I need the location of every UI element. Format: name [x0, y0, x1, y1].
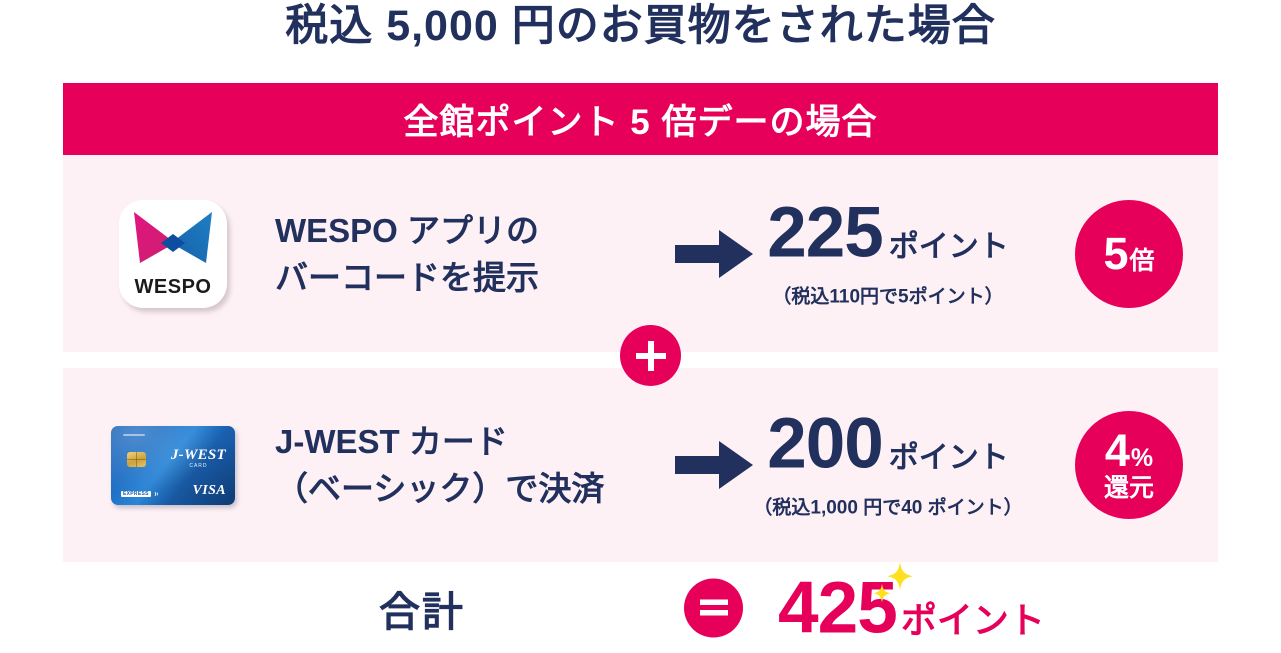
plus-glyph — [634, 339, 668, 373]
reward-row-jwest: J-WEST CARD EXPRESS VISA J-WEST カード （ — [63, 368, 1218, 562]
equals-glyph — [698, 597, 730, 619]
points-main-line: 225ポイント — [723, 198, 1053, 287]
points-unit: ポイント — [889, 230, 1009, 263]
points-note: （税込1,000 円で40 ポイント） — [723, 497, 1053, 521]
badge-secondary-line: 還元 — [1104, 474, 1154, 502]
label-line-2: （ベーシック）で決済 — [275, 465, 604, 512]
campaign-header-label: 全館ポイント 5 倍デーの場合 — [404, 94, 878, 145]
badge-suffix: % — [1131, 446, 1153, 471]
plus-divider-icon — [620, 325, 681, 386]
reward-points-wespo: 225ポイント （税込110円で5ポイント） — [723, 198, 1053, 309]
rebate-badge-4percent: 4% 還元 — [1075, 411, 1183, 519]
wespo-logo-cell: WESPO — [103, 189, 243, 319]
card-brand-sub: CARD — [171, 463, 226, 470]
card-brand-logo: J-WEST CARD — [171, 448, 226, 470]
infographic-root: 税込 5,000 円のお買物をされた場合 全館ポイント 5 倍デーの場合 — [0, 0, 1281, 653]
reward-row-content: WESPO WESPO アプリの バーコードを提示 225ポイント （税込110… — [63, 155, 1218, 352]
points-note: （税込110円で5ポイント） — [723, 285, 1053, 309]
campaign-header-band: 全館ポイント 5 倍デーの場合 — [63, 83, 1218, 155]
badge-value: 5 — [1103, 231, 1128, 276]
total-value-number: 425 — [778, 571, 897, 644]
points-value: 200 — [767, 405, 882, 484]
label-line-2: バーコードを提示 — [275, 254, 539, 301]
total-value-unit: ポイント — [901, 591, 1045, 643]
reward-row-content: J-WEST CARD EXPRESS VISA J-WEST カード （ — [63, 368, 1218, 562]
points-unit: ポイント — [889, 442, 1009, 475]
jwest-logo-cell: J-WEST CARD EXPRESS VISA — [103, 400, 243, 530]
card-brand-name: J-WEST — [171, 448, 226, 463]
label-line-1: J-WEST カード — [275, 418, 604, 465]
label-line-1: WESPO アプリの — [275, 207, 539, 254]
wespo-app-icon: WESPO — [119, 200, 227, 308]
wespo-wordmark: WESPO — [119, 276, 227, 299]
badge-suffix: 倍 — [1130, 249, 1155, 274]
reward-points-jwest: 200ポイント （税込1,000 円で40 ポイント） — [723, 410, 1053, 521]
equals-icon — [684, 578, 743, 637]
card-express-label: EXPRESS — [121, 491, 151, 497]
total-points: 425ポイント — [778, 571, 1045, 644]
card-top-stripe — [123, 434, 145, 436]
points-main-line: 200ポイント — [723, 410, 1053, 499]
card-chip-icon — [127, 452, 146, 467]
badge-primary-line: 5倍 — [1103, 231, 1154, 276]
card-express-mark: EXPRESS — [121, 491, 160, 497]
reward-row-label-wespo: WESPO アプリの バーコードを提示 — [275, 207, 539, 301]
wespo-butterfly-mark — [132, 212, 214, 266]
reward-row-wespo: WESPO WESPO アプリの バーコードを提示 225ポイント （税込110… — [63, 155, 1218, 352]
page-title: 税込 5,000 円のお買物をされた場合 — [0, 0, 1281, 56]
total-label: 合計 — [379, 578, 465, 638]
badge-value: 4 — [1105, 428, 1130, 473]
total-row: 合計 425ポイント — [63, 562, 1218, 653]
badge-primary-line: 4% — [1105, 428, 1153, 473]
points-value: 225 — [767, 193, 882, 272]
multiplier-badge-5x: 5倍 — [1075, 200, 1183, 308]
card-network-logo: VISA — [192, 483, 226, 499]
reward-row-label-jwest: J-WEST カード （ベーシック）で決済 — [275, 418, 604, 512]
jwest-card-image: J-WEST CARD EXPRESS VISA — [111, 426, 235, 505]
contactless-icon — [154, 491, 160, 497]
